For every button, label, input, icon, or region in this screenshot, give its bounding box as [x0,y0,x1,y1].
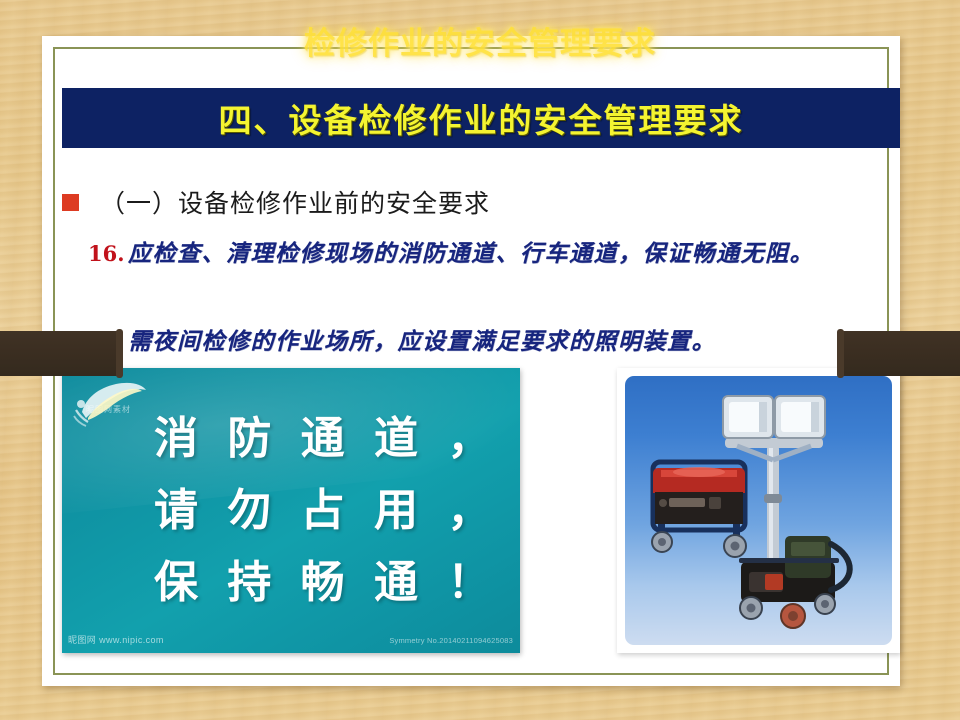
section-heading-text: （一）设备检修作业前的安全要求 [100,184,490,220]
list-item: 17. 需夜间检修的作业场所，应设置满足要求的照明装置。 [88,322,900,362]
section-heading-row: （一）设备检修作业前的安全要求 [62,184,490,220]
mobile-lighting-tower-image [617,368,900,653]
decorative-bar-left-cap [116,329,123,378]
bullet-square-icon [62,194,79,211]
sign-watermark-left: 昵图网 www.nipic.com [68,633,164,646]
list-item: 16. 应检查、清理检修现场的消防通道、行车通道，保证畅通无阻。 [88,234,900,274]
sign-text-line-3: 保 持 畅 通 ！ [154,546,510,610]
lighting-equipment-illustration [625,376,892,645]
decorative-bar-right-cap [837,329,844,378]
portable-generator-icon [652,462,746,557]
list-item-text: 应检查、清理检修现场的消防通道、行车通道，保证畅通无阻。 [128,234,814,274]
list-item-number: 16. [88,234,128,274]
list-item-text: 需夜间检修的作业场所，应设置满足要求的照明装置。 [128,322,716,362]
slide-title-text: 四、设备检修作业的安全管理要求 [219,94,744,142]
lighting-photo-inner [625,376,892,645]
sign-text-line-1: 消 防 通 道 ， [154,402,510,466]
decorative-bar-right [838,331,960,376]
slide-canvas: 四、设备检修作业的安全管理要求 检修作业的安全管理要求 （一）设备检修作业前的安… [0,0,960,720]
sign-watermark-right: Symmetry No.20140211094625083 [389,636,513,645]
slide-title-bar: 四、设备检修作业的安全管理要求 [62,88,900,148]
fire-lane-sign-image: 昵图网素材 消 防 通 道 ， 请 勿 占 用 ， 保 持 畅 通 ！ 昵图网 … [62,368,520,653]
picture-row: 昵图网素材 消 防 通 道 ， 请 勿 占 用 ， 保 持 畅 通 ！ 昵图网 … [62,368,900,658]
sign-text-line-2: 请 勿 占 用 ， [154,474,510,538]
decorative-bar-left [0,331,122,376]
